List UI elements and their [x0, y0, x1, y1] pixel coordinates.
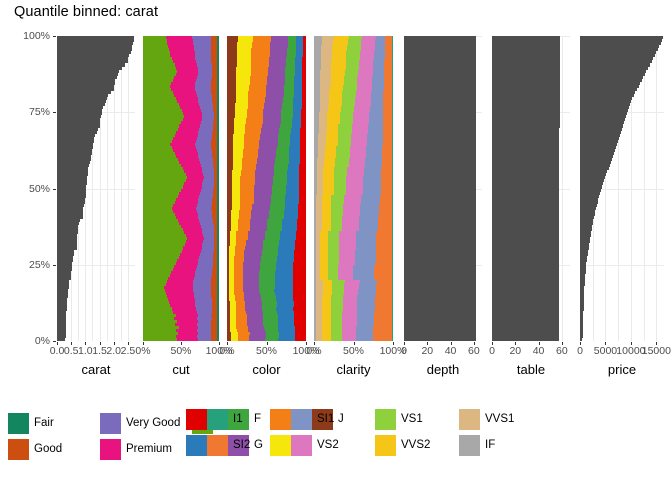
legend-swatch-Fair	[8, 413, 29, 434]
bar-segment	[492, 36, 560, 39]
legend-item-Good[interactable]: Good	[8, 438, 62, 460]
x-axis-label: 20	[509, 345, 521, 357]
legend-swatch-I	[270, 435, 291, 456]
bar-row	[314, 36, 393, 39]
legend-label-VVS1: VVS1	[485, 413, 514, 425]
y-axis-label: 75%	[29, 106, 50, 118]
y-axis-tick	[53, 341, 56, 342]
legend-swatch-VVS2	[375, 435, 396, 456]
x-axis-label: 0	[577, 345, 583, 357]
facet-title-clarity: clarity	[337, 362, 371, 377]
legend-label-G: G	[254, 439, 263, 451]
legend-swatch-Premium	[100, 439, 121, 460]
legend-item-VVS2[interactable]: VVS2	[375, 434, 430, 456]
legend-swatch-SI1	[291, 409, 312, 430]
x-axis-label: 0	[489, 345, 495, 357]
legend-item-VS1[interactable]: VS1	[375, 408, 423, 430]
legend-swatch-SI2	[207, 435, 228, 456]
bar-segment-Fair	[217, 36, 219, 39]
legend-swatch-VS2	[291, 435, 312, 456]
bar-segment-I	[238, 36, 253, 39]
legend-label-J: J	[338, 413, 344, 425]
legend-swatch-VVS1	[459, 409, 480, 430]
panel-color	[227, 36, 306, 341]
bar-segment-Ideal	[143, 36, 166, 39]
x-axis-label: 2.0	[106, 345, 121, 357]
bar-segment-D	[303, 36, 306, 39]
x-axis-label: 0.5	[64, 345, 79, 357]
x-axis-label: 2.5	[121, 345, 136, 357]
bar-segment	[57, 36, 134, 39]
y-axis-tick	[53, 189, 56, 190]
y-axis-label: 50%	[29, 183, 50, 195]
legend-item-VVS1[interactable]: VVS1	[459, 408, 514, 430]
legend-item-SI1[interactable]: SI1	[291, 408, 334, 430]
legend-label-SI1: SI1	[317, 413, 334, 425]
x-axis-label: 60	[556, 345, 568, 357]
x-axis-label: 0	[401, 345, 407, 357]
x-axis-label: 50%	[256, 345, 277, 357]
bar-segment-SI1	[376, 36, 385, 39]
legend-label-Very Good: Very Good	[126, 417, 180, 429]
facet-title-table: table	[517, 362, 545, 377]
bar-segment-VVS2	[334, 36, 349, 39]
x-axis-label: 15000	[642, 345, 671, 357]
x-axis-label: 60	[468, 345, 480, 357]
bar-row	[580, 36, 664, 39]
legend-swatch-VS1	[375, 409, 396, 430]
panel-carat	[57, 36, 135, 341]
bar-row	[404, 36, 482, 39]
legend-item-Very Good[interactable]: Very Good	[100, 412, 180, 434]
legend-swatch-H	[270, 409, 291, 430]
legend-label-VS2: VS2	[317, 439, 339, 451]
legend-item-Premium[interactable]: Premium	[100, 438, 172, 460]
x-axis-label: 20	[421, 345, 433, 357]
x-axis-label: 0.0	[50, 345, 65, 357]
plot-area: 0%25%50%75%100% 0.00.51.01.52.02.5carat0…	[0, 28, 672, 368]
y-axis-label: 0%	[35, 335, 50, 347]
bar-row	[227, 36, 306, 39]
bar-segment-VVS1	[322, 36, 334, 39]
x-axis-label: 40	[445, 345, 457, 357]
x-axis-label: 1.0	[78, 345, 93, 357]
legend-label-Premium: Premium	[126, 443, 172, 455]
facet-title-color: color	[252, 362, 280, 377]
x-axis-label: 40	[533, 345, 545, 357]
bar-segment-Premium	[166, 36, 193, 39]
x-axis-label: 50%	[170, 345, 191, 357]
bar-segment	[580, 36, 663, 39]
panel-table	[492, 36, 570, 341]
y-axis-tick	[53, 265, 56, 266]
legend-swatch-Very Good	[100, 413, 121, 434]
bar-segment-G	[271, 36, 288, 39]
legend-label-IF: IF	[485, 439, 495, 451]
bar-segment-SI2	[385, 36, 392, 39]
y-axis-tick	[53, 36, 56, 37]
facet-title-carat: carat	[82, 362, 111, 377]
bar-segment-I1	[392, 36, 393, 39]
bar-row	[492, 36, 570, 39]
legend-item-SI2[interactable]: SI2	[207, 434, 250, 456]
legend-label-I1: I1	[233, 413, 243, 425]
legend-label-VS1: VS1	[401, 413, 423, 425]
x-axis-label: 1.5	[92, 345, 107, 357]
facet-title-price: price	[608, 362, 636, 377]
legend-swatch-E	[186, 435, 207, 456]
legend-label-SI2: SI2	[233, 439, 250, 451]
x-axis-label: 0%	[306, 345, 321, 357]
bar-segment-VS1	[349, 36, 362, 39]
legend-swatch-D	[186, 409, 207, 430]
bar-segment-IF	[314, 36, 322, 39]
panel-clarity	[314, 36, 393, 341]
legend-label-VVS2: VVS2	[401, 439, 430, 451]
bar-segment-Very Good	[192, 36, 211, 39]
y-axis-label: 100%	[23, 30, 50, 42]
legend-item-IF[interactable]: IF	[459, 434, 495, 456]
legend-item-Fair[interactable]: Fair	[8, 412, 54, 434]
legend-item-VS2[interactable]: VS2	[291, 434, 339, 456]
page-title: Quantile binned: carat	[14, 4, 158, 20]
bar-segment-VS2	[362, 36, 375, 39]
legend-swatch-Good	[8, 439, 29, 460]
x-axis-label: 50%	[343, 345, 364, 357]
legend-item-I1[interactable]: I1	[207, 408, 243, 430]
facet-title-depth: depth	[427, 362, 460, 377]
bar-segment	[404, 36, 476, 39]
facet-title-cut: cut	[172, 362, 189, 377]
y-axis-label: 25%	[29, 259, 50, 271]
legend-label-F: F	[254, 413, 261, 425]
legend-label-Good: Good	[34, 443, 62, 455]
panel-cut	[143, 36, 219, 341]
x-axis-label: 0%	[135, 345, 150, 357]
bar-segment-H	[253, 36, 271, 39]
bar-segment-J	[227, 36, 238, 39]
legend-swatch-I1	[207, 409, 228, 430]
legend-swatch-IF	[459, 435, 480, 456]
bar-row	[143, 36, 219, 39]
x-axis-label: 5000	[594, 345, 617, 357]
bar-segment-F	[288, 36, 297, 39]
panel-depth	[404, 36, 482, 341]
legend-label-Fair: Fair	[34, 417, 54, 429]
bar-row	[57, 36, 135, 39]
x-axis-label: 0%	[219, 345, 234, 357]
panel-price	[580, 36, 664, 341]
y-axis-tick	[53, 112, 56, 113]
